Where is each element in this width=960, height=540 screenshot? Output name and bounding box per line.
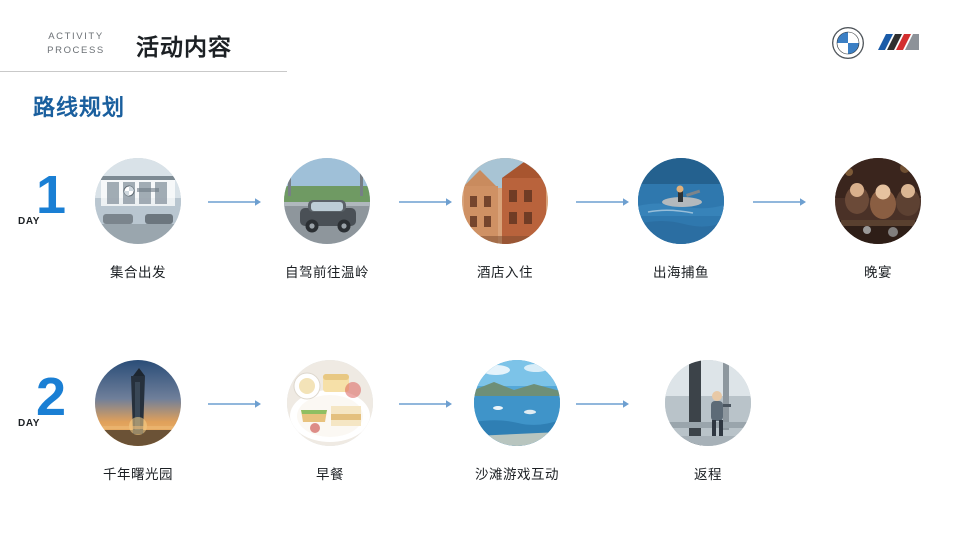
beach-bay-photo bbox=[474, 360, 560, 446]
step-day1-4[interactable]: 出海捕鱼 bbox=[606, 158, 756, 281]
step-day2-3[interactable]: 沙滩游戏互动 bbox=[442, 360, 592, 483]
step-label: 酒店入住 bbox=[430, 261, 580, 281]
step-label: 集合出发 bbox=[63, 261, 213, 281]
eyebrow-line-1: ACTIVITY bbox=[28, 30, 124, 44]
step-label: 自驾前往温岭 bbox=[252, 261, 402, 281]
sunrise-monument-photo bbox=[95, 360, 181, 446]
bmw-dealership-photo bbox=[95, 158, 181, 244]
eyebrow-line-2: PROCESS bbox=[28, 44, 124, 58]
arrow-day2-3 bbox=[576, 398, 630, 410]
header-divider bbox=[0, 71, 287, 72]
page-header: ACTIVITY PROCESS 活动内容 bbox=[0, 0, 960, 72]
arrow-day2-1 bbox=[208, 398, 262, 410]
step-day1-5[interactable]: 晚宴 bbox=[803, 158, 953, 281]
step-day2-1[interactable]: 千年曙光园 bbox=[63, 360, 213, 483]
section-title: 路线规划 bbox=[33, 90, 125, 122]
dinner-party-photo bbox=[835, 158, 921, 244]
bmw-m-stripes-icon bbox=[876, 33, 920, 51]
step-label: 晚宴 bbox=[803, 261, 953, 281]
step-label: 沙滩游戏互动 bbox=[442, 463, 592, 483]
fishing-boat-at-sea-photo bbox=[638, 158, 724, 244]
step-day1-3[interactable]: 酒店入住 bbox=[430, 158, 580, 281]
bmw-roundel-logo-icon bbox=[832, 27, 864, 59]
step-day2-4[interactable]: 返程 bbox=[633, 360, 783, 483]
page-title: 活动内容 bbox=[136, 28, 232, 62]
bmw-suv-on-road-photo bbox=[284, 158, 370, 244]
step-day2-2[interactable]: 早餐 bbox=[255, 360, 405, 483]
arrow-day1-4 bbox=[753, 196, 807, 208]
step-day1-1[interactable]: 集合出发 bbox=[63, 158, 213, 281]
day-label-1: DAY bbox=[18, 216, 60, 227]
day-label-2: DAY bbox=[18, 418, 60, 429]
step-day1-2[interactable]: 自驾前往温岭 bbox=[252, 158, 402, 281]
step-label: 千年曙光园 bbox=[63, 463, 213, 483]
step-label: 出海捕鱼 bbox=[606, 261, 756, 281]
step-label: 早餐 bbox=[255, 463, 405, 483]
header-eyebrow: ACTIVITY PROCESS bbox=[28, 30, 124, 58]
person-at-station-photo bbox=[665, 360, 751, 446]
seaside-hotel-buildings-photo bbox=[462, 158, 548, 244]
step-label: 返程 bbox=[633, 463, 783, 483]
breakfast-plate-photo bbox=[287, 360, 373, 446]
